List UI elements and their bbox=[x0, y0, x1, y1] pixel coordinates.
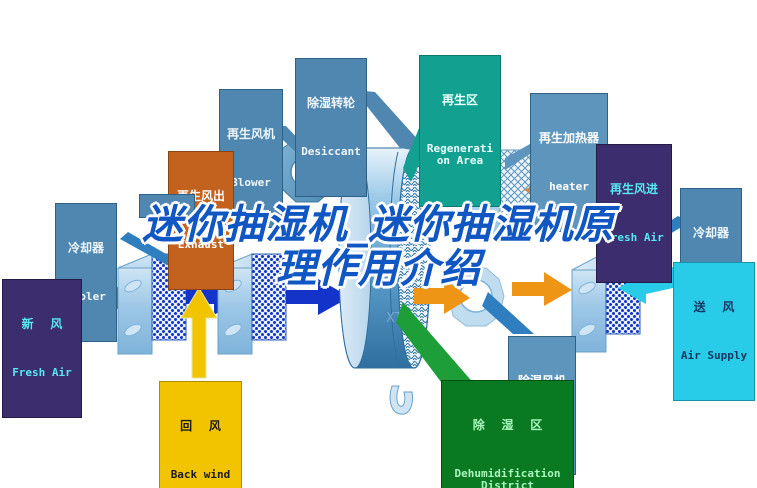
label-air-supply-en: Air Supply bbox=[677, 350, 751, 362]
label-air-supply: 送 风 Air Supply bbox=[673, 262, 755, 401]
label-regeneration-heater-cn: 再生加热器 bbox=[534, 132, 604, 145]
label-back-wind: 回 风 Back wind bbox=[159, 381, 242, 488]
label-regeneration-area-cn: 再生区 bbox=[423, 94, 497, 107]
label-desiccant-wheel: 除湿转轮 Desiccant bbox=[295, 58, 367, 197]
label-desiccant-wheel-cn: 除湿转轮 bbox=[299, 97, 363, 110]
label-regeneration-blower-cn: 再生风机 bbox=[223, 128, 279, 141]
label-regeneration-area: 再生区 Regenerati on Area bbox=[419, 55, 501, 207]
label-air-supply-cn: 送 风 bbox=[677, 301, 751, 314]
label-desiccant-wheel-en: Desiccant bbox=[299, 146, 363, 158]
label-cooler-left-b-cn: 冷却器 bbox=[143, 233, 191, 246]
label-back-wind-en: Back wind bbox=[163, 469, 238, 481]
label-dehumidification-district: 除 湿 区 Dehumidification District bbox=[441, 380, 574, 488]
label-fresh-air-in-en: Fresh Air bbox=[6, 367, 78, 379]
label-fresh-air-in-cn: 新 风 bbox=[6, 318, 78, 331]
diagram-canvas: XT bbox=[0, 0, 757, 488]
label-dehumidification-district-cn: 除 湿 区 bbox=[445, 419, 570, 432]
leader-dehum-blower bbox=[482, 292, 534, 334]
label-cooler-right-cn: 冷却器 bbox=[684, 227, 738, 240]
label-regeneration-area-en: Regenerati on Area bbox=[423, 143, 497, 168]
label-dehumidification-district-en: Dehumidification District bbox=[445, 468, 570, 488]
label-regeneration-heater-en: heater bbox=[534, 181, 604, 193]
label-fresh-air-in: 新 风 Fresh Air bbox=[2, 279, 82, 418]
label-back-wind-cn: 回 风 bbox=[163, 420, 238, 433]
label-regeneration-fresh-air: 再生风进 Fresh Air bbox=[596, 144, 672, 283]
label-regeneration-fresh-air-en: Fresh Air bbox=[600, 232, 668, 244]
label-cooler-left-a-cn: 冷却器 bbox=[59, 242, 113, 255]
label-regeneration-fresh-air-cn: 再生风进 bbox=[600, 183, 668, 196]
dry-air-arrow-2 bbox=[512, 272, 572, 306]
label-cooler-left-b: 冷却器 bbox=[139, 194, 195, 218]
